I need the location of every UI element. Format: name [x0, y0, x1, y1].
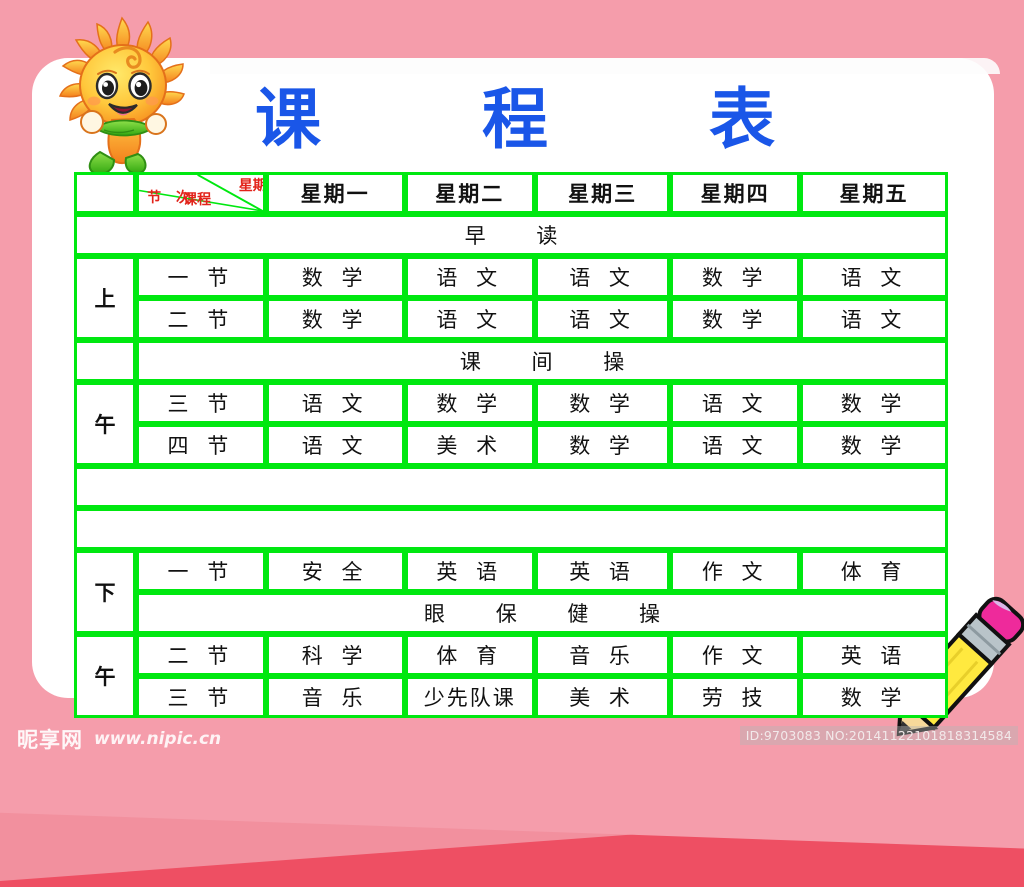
card-highlight	[210, 58, 1000, 74]
banner-row-morning-reading: 早 读	[74, 214, 948, 256]
cell-m2-mon: 数 学	[266, 298, 405, 340]
cell-a2-wed: 音 乐	[535, 634, 670, 676]
cell-m1-fri: 语 文	[800, 256, 948, 298]
period-label-a3: 三 节	[136, 676, 266, 718]
cell-a1-thu: 作 文	[670, 550, 800, 592]
page-title: 课 程 表	[255, 78, 775, 162]
cell-a3-wed: 美 术	[535, 676, 670, 718]
table-row-morning-3: 午 三 节 语 文 数 学 数 学 语 文 数 学	[74, 382, 948, 424]
day-header-fri: 星期五	[800, 172, 948, 214]
cell-a1-fri: 体 育	[800, 550, 948, 592]
watermark-id-text: ID:9703083 NO:20141122101818314584	[740, 726, 1018, 745]
cell-a2-fri: 英 语	[800, 634, 948, 676]
day-header-wed: 星期三	[535, 172, 670, 214]
cell-m2-fri: 语 文	[800, 298, 948, 340]
cell-m3-mon: 语 文	[266, 382, 405, 424]
halfday-label-afternoon-bottom: 午	[74, 634, 136, 718]
gap-row-cell	[74, 508, 948, 550]
period-label-m3: 三 节	[136, 382, 266, 424]
cell-m2-tue: 语 文	[405, 298, 535, 340]
period-label-m2: 二 节	[136, 298, 266, 340]
halfday-label-afternoon-top: 下	[74, 550, 136, 634]
cell-a3-mon: 音 乐	[266, 676, 405, 718]
cell-a3-thu: 劳 技	[670, 676, 800, 718]
cell-m3-tue: 数 学	[405, 382, 535, 424]
table-row-afternoon-2: 午 二 节 科 学 体 育 音 乐 作 文 英 语	[74, 634, 948, 676]
blank-row-cell	[74, 466, 948, 508]
banner-row-eye-exercise: 眼 保 健 操	[74, 592, 948, 634]
blank-separator-row	[74, 466, 948, 508]
cell-m2-wed: 语 文	[535, 298, 670, 340]
cell-a3-tue: 少先队课	[405, 676, 535, 718]
watermark-site-logo: 昵享网	[14, 723, 86, 755]
table-row-afternoon-3: 三 节 音 乐 少先队课 美 术 劳 技 数 学	[74, 676, 948, 718]
cell-a3-fri: 数 学	[800, 676, 948, 718]
watermark-left: 昵享网 www.nipic.cn	[14, 723, 221, 755]
cell-m1-tue: 语 文	[405, 256, 535, 298]
corner-label-week: 星期	[239, 179, 255, 194]
corner-label-period: 节 次	[147, 191, 195, 206]
table-row-morning-4: 四 节 语 文 美 术 数 学 语 文 数 学	[74, 424, 948, 466]
banner-eye-exercise: 眼 保 健 操	[136, 592, 948, 634]
cell-m3-thu: 语 文	[670, 382, 800, 424]
cell-m4-thu: 语 文	[670, 424, 800, 466]
title-char-2: 程	[482, 87, 548, 153]
period-label-m4: 四 节	[136, 424, 266, 466]
halfday-label-morning-bottom: 午	[74, 382, 136, 466]
title-char-1: 课	[255, 87, 321, 153]
cell-m1-thu: 数 学	[670, 256, 800, 298]
table-row-morning-2: 二 节 数 学 语 文 语 文 数 学 语 文	[74, 298, 948, 340]
cell-a1-tue: 英 语	[405, 550, 535, 592]
cell-m4-fri: 数 学	[800, 424, 948, 466]
cell-m1-mon: 数 学	[266, 256, 405, 298]
cell-m3-wed: 数 学	[535, 382, 670, 424]
period-label-m1: 一 节	[136, 256, 266, 298]
table-header-row: 星期 课程 节 次 星期一 星期二 星期三 星期四 星期五	[74, 172, 948, 214]
gap-row	[74, 508, 948, 550]
cell-a2-mon: 科 学	[266, 634, 405, 676]
cell-a2-tue: 体 育	[405, 634, 535, 676]
period-label-a2: 二 节	[136, 634, 266, 676]
cell-a1-wed: 英 语	[535, 550, 670, 592]
banner-recess-exercise: 课 间 操	[136, 340, 948, 382]
banner-morning-reading: 早 读	[74, 214, 948, 256]
period-label-a1: 一 节	[136, 550, 266, 592]
class-schedule-table: 星期 课程 节 次 星期一 星期二 星期三 星期四 星期五 早 读 上 一 节 …	[74, 172, 948, 718]
table-row-morning-1: 上 一 节 数 学 语 文 语 文 数 学 语 文	[74, 256, 948, 298]
day-header-tue: 星期二	[405, 172, 535, 214]
watermark-site-url: www.nipic.cn	[94, 729, 221, 749]
cell-m2-thu: 数 学	[670, 298, 800, 340]
day-header-mon: 星期一	[266, 172, 405, 214]
cell-m3-fri: 数 学	[800, 382, 948, 424]
header-spacer-cell	[74, 172, 136, 214]
banner-row-recess: 课 间 操	[74, 340, 948, 382]
table-row-afternoon-1: 下 一 节 安 全 英 语 英 语 作 文 体 育	[74, 550, 948, 592]
halfday-label-morning-top: 上	[74, 256, 136, 340]
corner-diagonal-header-cell: 星期 课程 节 次	[136, 172, 266, 214]
cell-a1-mon: 安 全	[266, 550, 405, 592]
cell-m4-mon: 语 文	[266, 424, 405, 466]
cell-a2-thu: 作 文	[670, 634, 800, 676]
cell-m4-tue: 美 术	[405, 424, 535, 466]
halfday-spacer-recess	[74, 340, 136, 382]
cell-m4-wed: 数 学	[535, 424, 670, 466]
sun-flower-mascot-icon	[52, 12, 198, 178]
cell-m1-wed: 语 文	[535, 256, 670, 298]
day-header-thu: 星期四	[670, 172, 800, 214]
title-char-3: 表	[709, 87, 775, 153]
